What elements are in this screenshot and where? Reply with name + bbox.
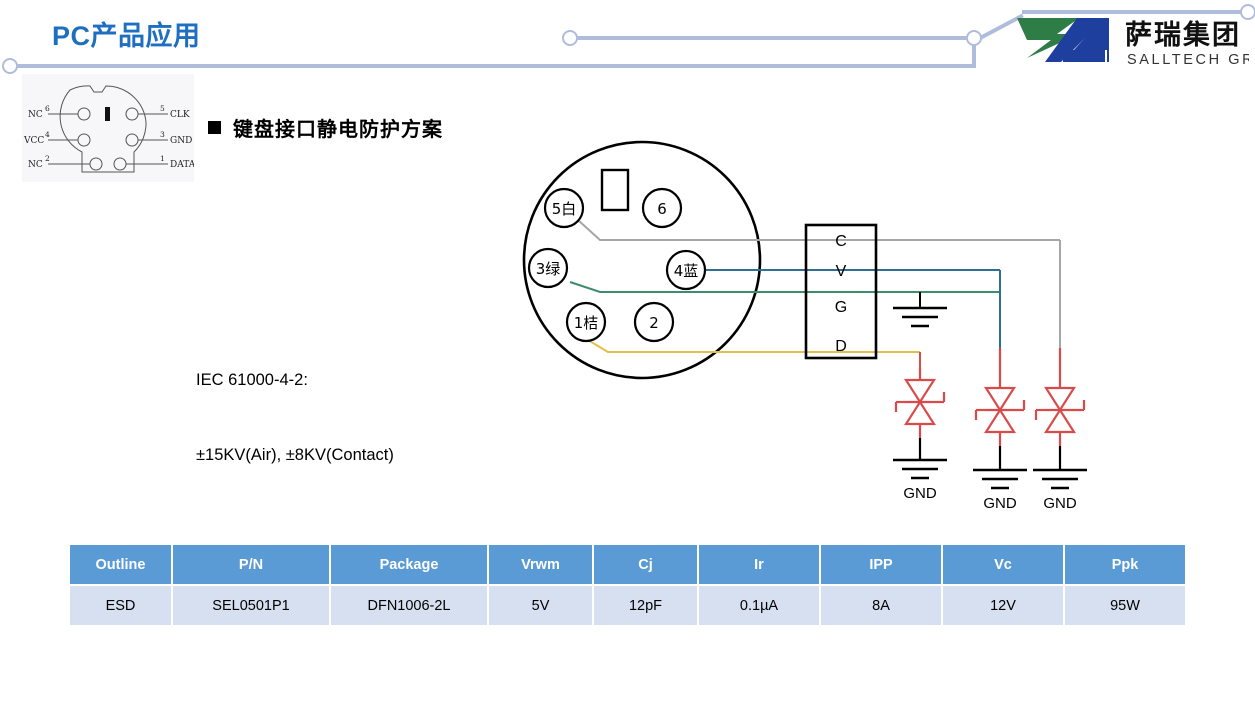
ground-label-1: GND bbox=[903, 485, 937, 502]
header-circle-corner bbox=[966, 30, 982, 46]
col-header-ir: Ir bbox=[698, 544, 820, 585]
iec-line-2: ±15KV(Air), ±8KV(Contact) bbox=[196, 443, 394, 468]
ground-symbol-2 bbox=[973, 470, 1027, 488]
ps2-label-nc-6: NC bbox=[28, 110, 43, 120]
col-header-vc: Vc bbox=[942, 544, 1064, 585]
col-header-outline: Outline bbox=[69, 544, 172, 585]
svg-text:SALLTECH GROUP: SALLTECH GROUP bbox=[1127, 52, 1249, 68]
ps2-pin-6: 6 bbox=[45, 104, 50, 113]
connector-keyway bbox=[602, 170, 628, 210]
brand-logo: 萨瑞集团 SALLTECH GROUP bbox=[1013, 12, 1249, 74]
bullet-square-icon bbox=[208, 121, 221, 134]
cell-pn: SEL0501P1 bbox=[172, 585, 330, 626]
ground-symbol-3 bbox=[1033, 470, 1087, 488]
cell-ir: 0.1µA bbox=[698, 585, 820, 626]
col-header-package: Package bbox=[330, 544, 488, 585]
ground-symbol-g bbox=[893, 308, 947, 326]
cell-cj: 12pF bbox=[593, 585, 698, 626]
ps2-label-clk-5: CLK bbox=[170, 110, 190, 120]
ps2-pin-1: 1 bbox=[160, 154, 165, 163]
cell-outline: ESD bbox=[69, 585, 172, 626]
ps2-label-vcc-4: VCC bbox=[23, 136, 44, 146]
header-line-lower bbox=[10, 64, 976, 68]
pin-label-1: 1桔 bbox=[574, 314, 599, 332]
ps2-label-data-1: DATA bbox=[170, 160, 194, 170]
ic-pin-label-d: D bbox=[835, 338, 847, 355]
ps2-connector-pinout-image: NC 6 VCC 4 NC 2 CLK 5 GND 3 DATA 1 bbox=[22, 74, 194, 182]
cell-ipp: 8A bbox=[820, 585, 942, 626]
cell-ppk: 95W bbox=[1064, 585, 1186, 626]
tvs-diode-1 bbox=[896, 368, 944, 438]
pin-label-2: 2 bbox=[649, 314, 659, 332]
pin-label-6: 6 bbox=[657, 200, 667, 218]
pin-label-5: 5白 bbox=[552, 200, 577, 218]
col-header-ipp: IPP bbox=[820, 544, 942, 585]
iec-line-1: IEC 61000-4-2: bbox=[196, 368, 394, 393]
tvs-diode-3 bbox=[1036, 348, 1084, 446]
cell-package: DFN1006-2L bbox=[330, 585, 488, 626]
header-line-upper bbox=[570, 36, 976, 40]
section-heading: 键盘接口静电防护方案 bbox=[208, 113, 443, 142]
spec-table: Outline P/N Package Vrwm Cj Ir IPP Vc Pp… bbox=[68, 543, 1187, 627]
header-circle-left bbox=[2, 58, 18, 74]
col-header-vrwm: Vrwm bbox=[488, 544, 593, 585]
cell-vc: 12V bbox=[942, 585, 1064, 626]
esd-protection-schematic: 5白 6 3绿 4蓝 1桔 2 C V G D bbox=[500, 140, 1120, 510]
ps2-pin-2: 2 bbox=[45, 154, 50, 163]
ic-pin-label-v: V bbox=[836, 263, 847, 280]
table-row: ESD SEL0501P1 DFN1006-2L 5V 12pF 0.1µA 8… bbox=[69, 585, 1186, 626]
tvs-diode-2 bbox=[976, 348, 1024, 446]
col-header-pn: P/N bbox=[172, 544, 330, 585]
pin-label-4: 4蓝 bbox=[674, 262, 699, 280]
ps2-label-gnd-3: GND bbox=[170, 136, 192, 146]
ps2-label-nc-2: NC bbox=[28, 160, 43, 170]
pin-label-3: 3绿 bbox=[536, 260, 561, 278]
ic-pin-label-c: C bbox=[835, 233, 847, 250]
cell-vrwm: 5V bbox=[488, 585, 593, 626]
iec-standard-note: IEC 61000-4-2: ±15KV(Air), ±8KV(Contact) bbox=[196, 318, 394, 493]
ps2-pin-4: 4 bbox=[45, 130, 50, 139]
ground-label-3: GND bbox=[1043, 495, 1077, 510]
ps2-pin-3: 3 bbox=[160, 130, 165, 139]
page-title: PC产品应用 bbox=[52, 14, 201, 53]
col-header-ppk: Ppk bbox=[1064, 544, 1186, 585]
svg-text:萨瑞集团: 萨瑞集团 bbox=[1125, 19, 1241, 51]
header-circle-middle bbox=[562, 30, 578, 46]
ground-label-2: GND bbox=[983, 495, 1017, 510]
wire-pin3-green bbox=[570, 282, 1000, 292]
table-header-row: Outline P/N Package Vrwm Cj Ir IPP Vc Pp… bbox=[69, 544, 1186, 585]
ic-pin-label-g: G bbox=[835, 299, 847, 316]
ground-symbol-1 bbox=[893, 460, 947, 478]
col-header-cj: Cj bbox=[593, 544, 698, 585]
ps2-pin-5: 5 bbox=[160, 104, 165, 113]
section-heading-label: 键盘接口静电防护方案 bbox=[233, 113, 443, 142]
